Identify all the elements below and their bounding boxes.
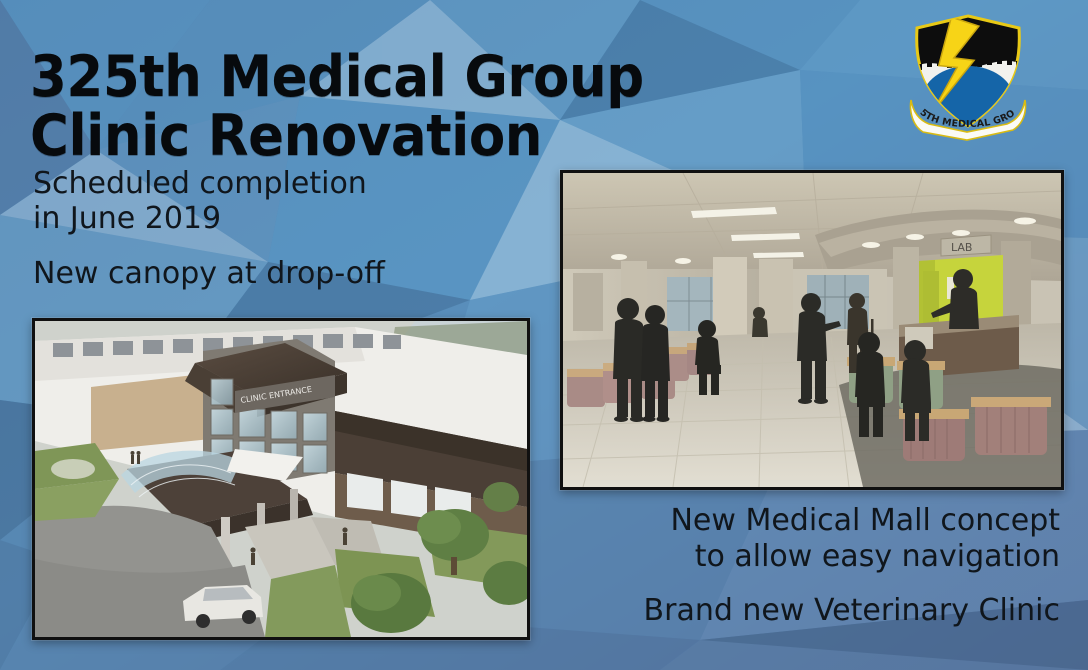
bullet-medical-mall: New Medical Mall concept to allow easy n… xyxy=(540,503,1060,575)
right-captions: New Medical Mall concept to allow easy n… xyxy=(540,503,1060,629)
325th-medical-group-logo: 325TH MEDICAL GROUP xyxy=(903,8,1033,142)
scheduled-completion-text: Scheduled completion in June 2019 xyxy=(33,166,367,236)
exterior-clinic-entrance-rendering: CLINIC ENTRANCE xyxy=(32,318,530,640)
bullet-new-canopy: New canopy at drop-off xyxy=(33,256,385,292)
bullet-veterinary-clinic: Brand new Veterinary Clinic xyxy=(540,593,1060,629)
poster-canvas: 325th Medical Group Clinic Renovation Sc… xyxy=(0,0,1088,670)
interior-medical-mall-rendering: LAB xyxy=(560,170,1064,490)
page-title: 325th Medical Group Clinic Renovation xyxy=(30,48,644,165)
lab-sign-text: LAB xyxy=(951,241,972,254)
